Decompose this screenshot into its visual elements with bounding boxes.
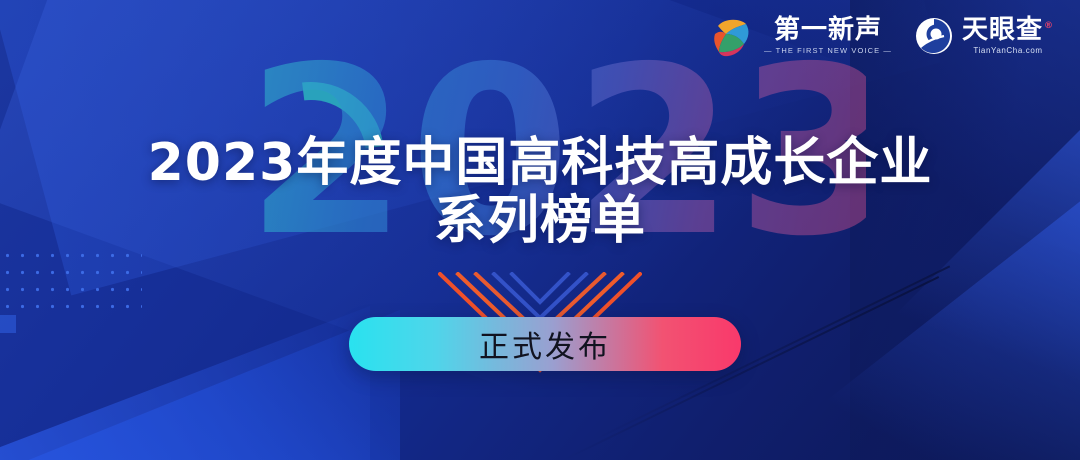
logo-diyixinsheng-name: 第一新声 bbox=[774, 17, 882, 44]
logo-diyixinsheng-tagline: — THE FIRST NEW VOICE — bbox=[764, 46, 892, 55]
background-facet-bottom-left-wedge-2 bbox=[0, 270, 370, 460]
square-accent-decoration bbox=[0, 315, 16, 333]
logo-tianyancha-text: 天眼查® TianYanCha.com bbox=[962, 17, 1054, 55]
ribbon-logo-icon bbox=[710, 14, 756, 58]
logo-diyixinsheng[interactable]: 第一新声 — THE FIRST NEW VOICE — bbox=[710, 14, 892, 58]
registered-mark-icon: ® bbox=[1044, 21, 1054, 31]
dot-grid-decoration bbox=[0, 247, 142, 317]
page-title: 2023年度中国高科技高成长企业 系列榜单 bbox=[0, 134, 1080, 250]
logo-tianyancha[interactable]: 天眼查® TianYanCha.com bbox=[914, 16, 1054, 56]
logo-tianyancha-tagline: TianYanCha.com bbox=[973, 46, 1042, 55]
headline-line-1: 2023年度中国高科技高成长企业 bbox=[0, 134, 1080, 192]
logo-diyixinsheng-text: 第一新声 — THE FIRST NEW VOICE — bbox=[764, 17, 892, 55]
headline-line-2: 系列榜单 bbox=[0, 192, 1080, 250]
release-status-label: 正式发布 bbox=[479, 322, 611, 366]
logo-group: 第一新声 — THE FIRST NEW VOICE — 天眼查® TianYa… bbox=[710, 14, 1054, 58]
logo-tianyancha-name: 天眼查® bbox=[962, 17, 1054, 44]
promo-banner: 2023 2023年度中国高科技高成长企业 系列榜单 正式发布 bbox=[0, 0, 1080, 460]
eye-lens-logo-icon bbox=[914, 16, 954, 56]
release-status-badge[interactable]: 正式发布 bbox=[349, 317, 741, 371]
